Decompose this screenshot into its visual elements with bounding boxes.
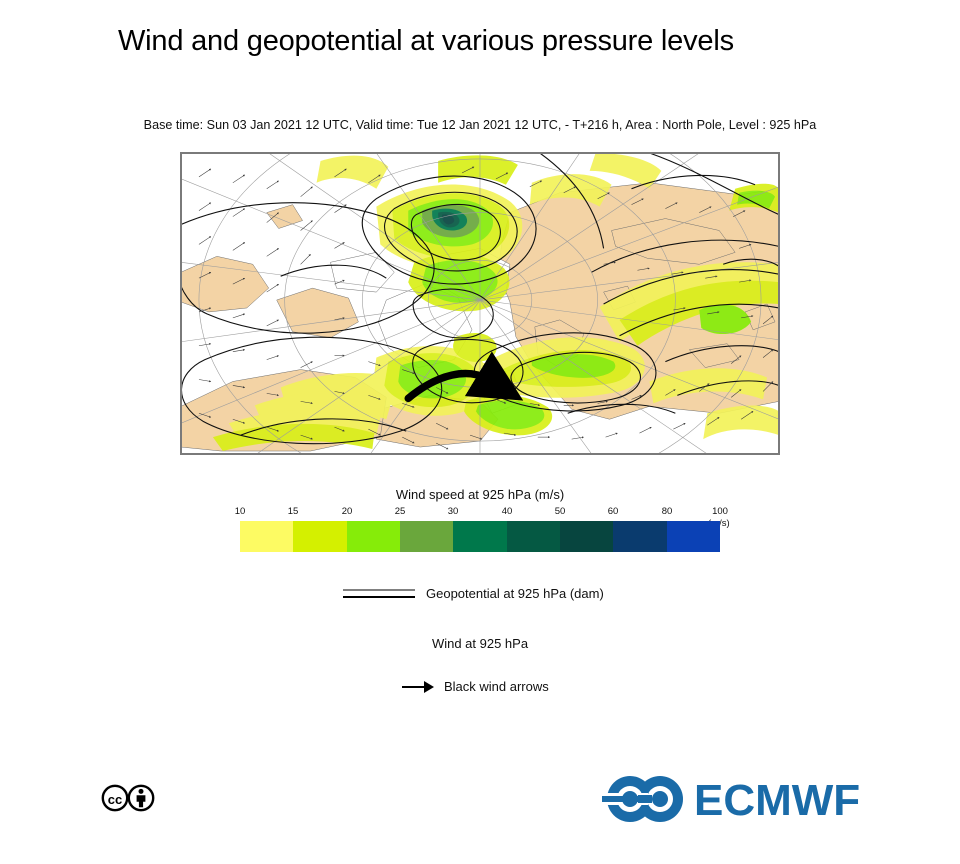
cc-mark-text: cc <box>108 792 122 807</box>
colorbar-title: Wind speed at 925 hPa (m/s) <box>0 487 960 502</box>
legend-arrow-label: Black wind arrows <box>444 676 549 698</box>
arrow-icon <box>400 676 436 698</box>
colorbar-swatch-4 <box>400 521 453 552</box>
contour-line-symbol <box>343 583 415 605</box>
colorbar-tick-10: 10 <box>235 506 246 517</box>
colorbar-tick-80: 80 <box>662 506 673 517</box>
colorbar-tick-25: 25 <box>395 506 406 517</box>
polar-map-graphic <box>181 153 779 454</box>
page-title: Wind and geopotential at various pressur… <box>118 22 818 61</box>
contour-line-gray <box>343 589 415 591</box>
colorbar-swatch-6 <box>507 521 560 552</box>
figure-subtitle: Base time: Sun 03 Jan 2021 12 UTC, Valid… <box>0 118 960 132</box>
legend-wind-arrows: Black wind arrows <box>0 676 960 698</box>
colorbar-swatch-9 <box>667 521 720 552</box>
colorbar-tick-60: 60 <box>608 506 619 517</box>
ecmwf-logo[interactable]: ECMWF <box>602 771 860 827</box>
cc-by-person-icon <box>137 789 146 807</box>
colorbar-swatch-8 <box>613 521 666 552</box>
colorbar-swatch-1 <box>240 521 293 552</box>
contour-line-black <box>343 596 415 598</box>
ecmwf-wordmark: ECMWF <box>694 776 860 825</box>
colorbar-swatch-2 <box>293 521 346 552</box>
legend-geopotential: Geopotential at 925 hPa (dam) <box>0 583 960 607</box>
creative-commons-icon[interactable]: cc <box>100 783 158 813</box>
colorbar-swatch-5 <box>453 521 506 552</box>
colorbar-tick-20: 20 <box>342 506 353 517</box>
colorbar <box>240 521 720 552</box>
ecmwf-symbol-icon <box>602 776 683 822</box>
colorbar-tick-40: 40 <box>502 506 513 517</box>
legend-wind-title: Wind at 925 hPa <box>0 636 960 651</box>
colorbar-swatch-7 <box>560 521 613 552</box>
colorbar-tick-50: 50 <box>555 506 566 517</box>
colorbar-swatch-3 <box>347 521 400 552</box>
colorbar-tick-30: 30 <box>448 506 459 517</box>
map-panel <box>180 152 780 455</box>
legend-geopotential-label: Geopotential at 925 hPa (dam) <box>426 583 604 605</box>
colorbar-ticks: 10 15 20 25 30 40 50 60 80 100 <box>240 506 720 520</box>
colorbar-tick-15: 15 <box>288 506 299 517</box>
colorbar-tick-100: 100 <box>712 506 728 517</box>
figure-page: Wind and geopotential at various pressur… <box>0 0 960 864</box>
